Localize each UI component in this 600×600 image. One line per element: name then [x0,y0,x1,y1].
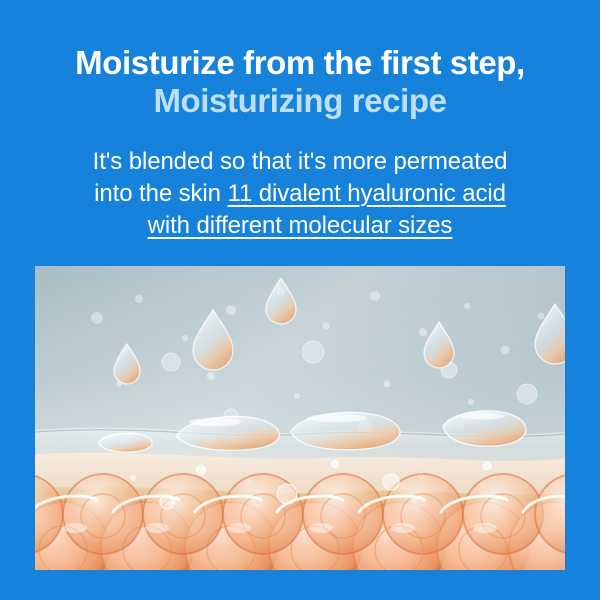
subcopy-line-2-underlined: 11 divalent hyaluronic acid [227,180,505,207]
photo-illustration [35,266,565,570]
headline-block: Moisturize from the first step, Moisturi… [0,44,600,121]
headline-line-2: Moisturizing recipe [0,82,600,120]
subcopy-block: It's blended so that it's more permeated… [0,146,600,242]
hyaluronic-acid-droplets-photo [35,266,565,570]
promo-banner: Moisturize from the first step, Moisturi… [0,0,600,600]
subcopy-line-3-underlined: with different molecular sizes [0,210,600,242]
subcopy-line-1: It's blended so that it's more permeated [0,146,600,178]
subcopy-line-2-plain: into the skin [94,180,227,207]
subcopy-line-2: into the skin 11 divalent hyaluronic aci… [0,178,600,210]
headline-line-1: Moisturize from the first step, [0,44,600,82]
